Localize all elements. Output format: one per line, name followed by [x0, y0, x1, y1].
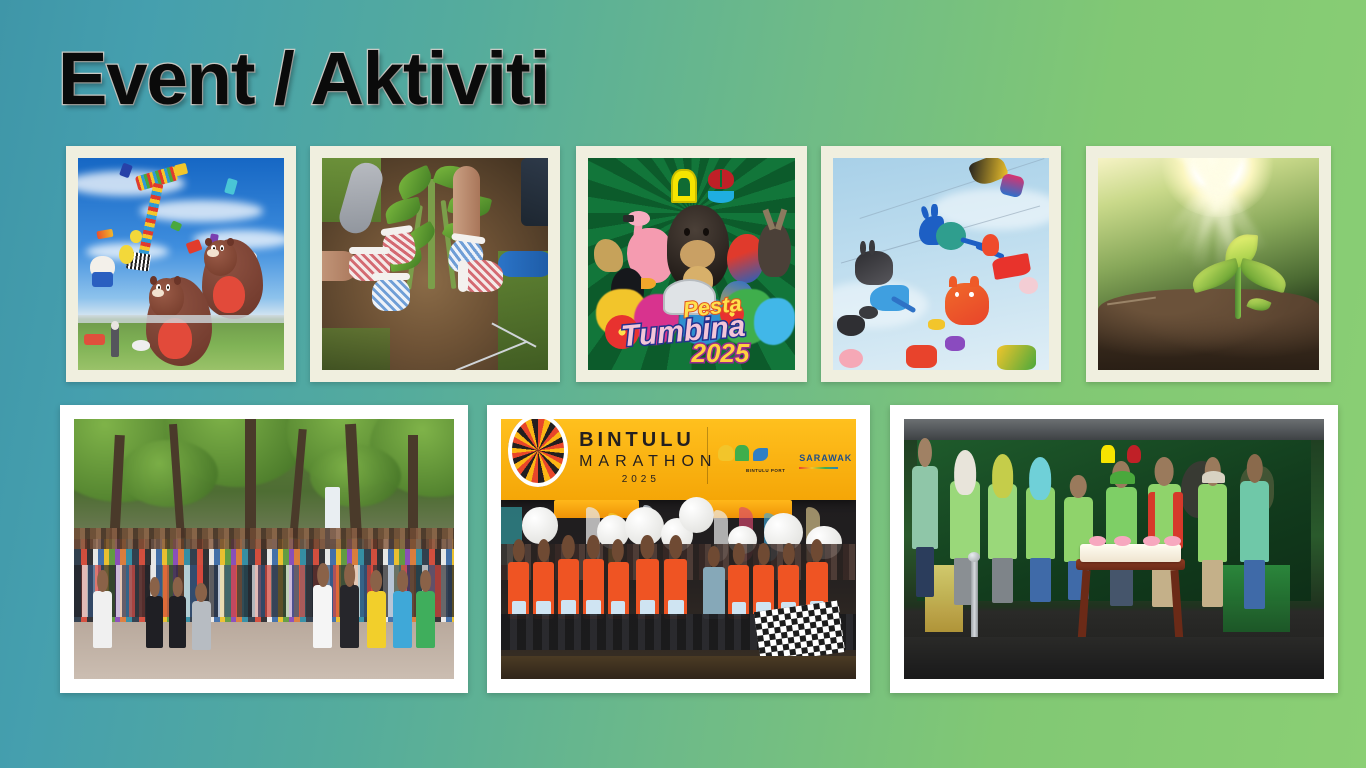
banner-text-marathon: MARATHON [579, 453, 717, 471]
logo-bintulu-port [753, 448, 768, 461]
sponsor-label-sarawak: SARAWAK [799, 453, 852, 463]
blue-dragon-kite [870, 285, 909, 310]
backdrop-logo-council [1127, 445, 1141, 463]
seedling-leaf-right [1237, 258, 1290, 294]
balloon [679, 497, 715, 533]
marathon-runner [664, 559, 687, 619]
vip-cap-2 [1202, 471, 1225, 483]
photo-frame-community-run[interactable] [60, 405, 468, 693]
banner-text-year: 2025 [622, 474, 660, 485]
photo-frame-cake-cutting[interactable] [890, 405, 1338, 693]
backdrop-logo-dun [1101, 445, 1115, 463]
balloon [522, 507, 558, 543]
photo-frame-bintulu-marathon[interactable]: BINTULU MARATHON 2025 BINTULU PORT SARAW… [487, 405, 870, 693]
marathon-runner [558, 559, 579, 619]
photo-frame-pesta-tumbina-poster[interactable]: Pesta Tumbina 2025 [576, 146, 807, 382]
marathon-runner [608, 562, 629, 619]
photo-pesta-tumbina-2025-poster: Pesta Tumbina 2025 [588, 158, 795, 370]
logo-hornbill [718, 445, 734, 461]
seahorse-kite [919, 213, 984, 260]
marathon-runner [728, 565, 749, 620]
marathon-runner [703, 567, 724, 619]
photo-tree-planting-hands [322, 158, 548, 370]
marathon-runner [508, 562, 529, 619]
vip-cap [1110, 471, 1135, 484]
glove-red-right [458, 260, 503, 292]
photo-community-run-group [74, 419, 454, 679]
vip-guest [1026, 487, 1055, 560]
vip-guest [912, 466, 937, 549]
photo-bintulu-marathon-2025: BINTULU MARATHON 2025 BINTULU PORT SARAW… [501, 419, 856, 679]
marathon-runner [533, 562, 554, 619]
sun-bear-graphic [667, 205, 729, 290]
vip-guest [1198, 484, 1227, 562]
orange-cat-kite [945, 283, 988, 325]
red-small-kite [982, 234, 999, 255]
photo-frame-seedling[interactable] [1086, 146, 1331, 382]
photo-frame-tree-planting[interactable] [310, 146, 560, 382]
vip-guest [950, 481, 979, 559]
glove-blue-left [372, 277, 410, 311]
logo-council [708, 169, 734, 203]
logo-dun [671, 169, 697, 203]
vip-guest [1240, 481, 1269, 562]
photo-animal-kites-sky [833, 158, 1049, 370]
photo-kite-festival-chipmunks [78, 158, 284, 370]
photo-seedling-sunlight [1098, 158, 1319, 370]
rabbit-kite [855, 251, 894, 285]
marathon-runner [636, 559, 659, 619]
ceremonial-cake [1080, 544, 1181, 562]
marathon-runner [583, 559, 604, 619]
photo-frame-kite-festival[interactable] [66, 146, 296, 382]
banner-text-bintulu: BINTULU [579, 429, 695, 452]
photo-cake-cutting-ceremony [904, 419, 1324, 679]
logo-council-bintulu [735, 445, 749, 461]
photo-frame-animal-kites[interactable] [821, 146, 1061, 382]
poster-year: 2025 [692, 338, 750, 369]
checkered-flag [753, 601, 845, 664]
sponsor-label-bintulu-port: BINTULU PORT [746, 468, 786, 473]
page-title: Event / Aktiviti [58, 36, 549, 121]
vip-guest [988, 484, 1017, 559]
